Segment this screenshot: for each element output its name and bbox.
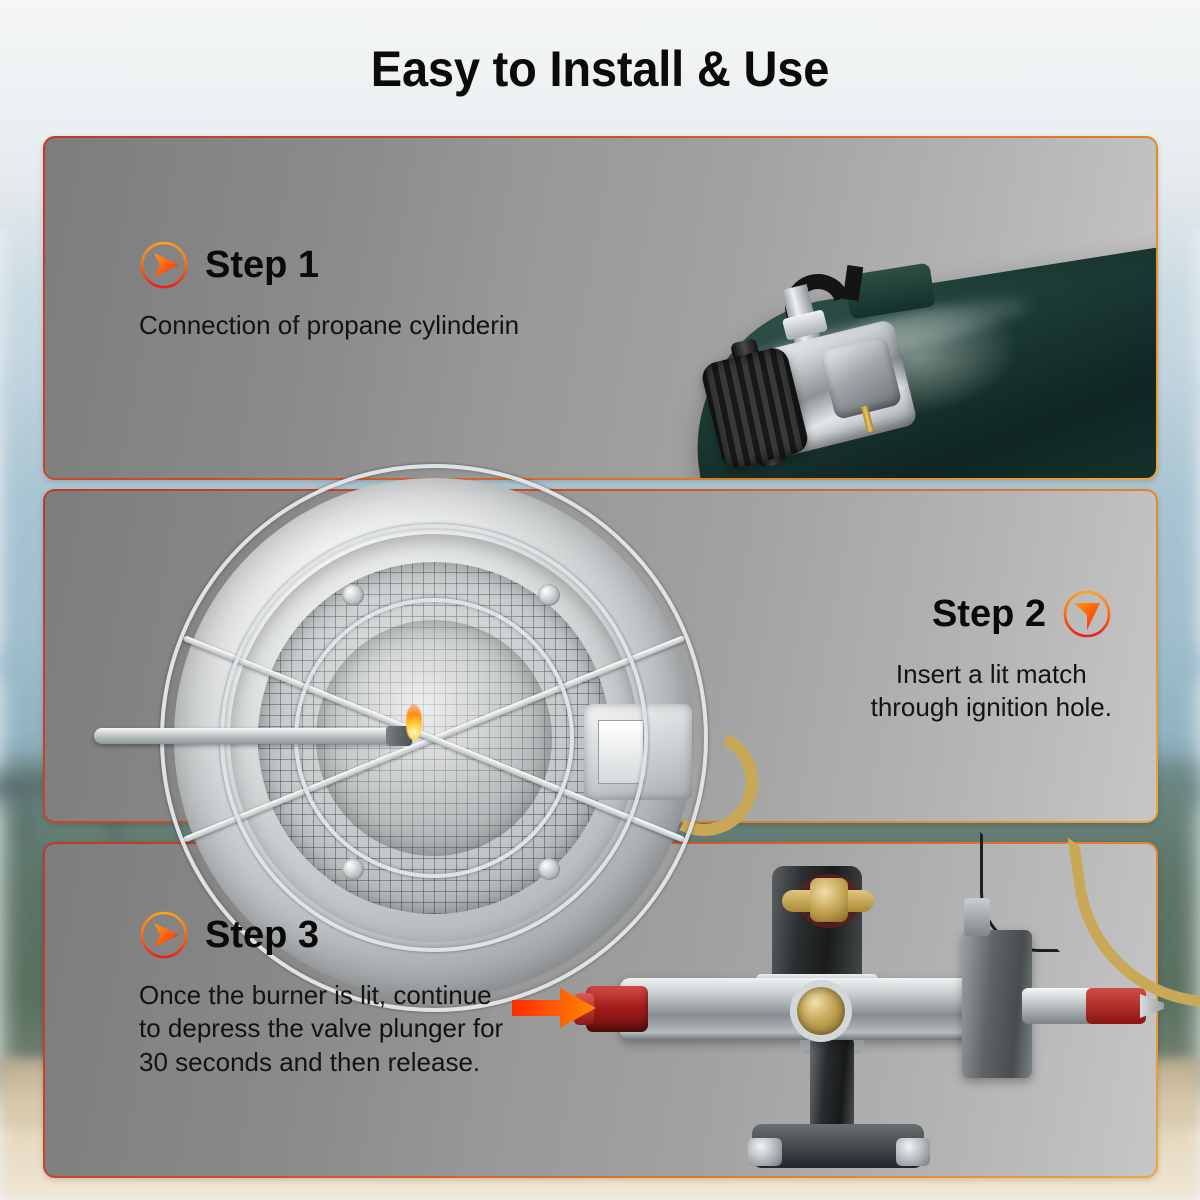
step-3-title: Step 3 <box>205 916 319 954</box>
step-3-illustration <box>560 838 1180 1183</box>
step-2-body: Insert a lit match through ignition hole… <box>871 658 1112 725</box>
circle-arrow-down-icon <box>1062 589 1112 639</box>
page-title: Easy to Install & Use <box>36 40 1164 98</box>
match-rod <box>94 728 404 744</box>
wing-nut-hub <box>810 878 848 922</box>
step-3-heading: Step 3 <box>139 910 503 960</box>
circle-arrow-right-icon <box>139 240 189 290</box>
step-2-title: Step 2 <box>932 595 1046 633</box>
brass-inlet-port <box>790 980 852 1042</box>
circle-arrow-right-icon <box>139 910 189 960</box>
press-direction-arrow-icon <box>512 986 598 1030</box>
valve-red-cap <box>1086 988 1146 1024</box>
step-1-text-block: Step 1 Connection of propane cylinderin <box>139 240 519 342</box>
flame-icon <box>406 704 422 740</box>
step-3-body: Once the burner is lit, continue to depr… <box>139 979 503 1079</box>
step-1-body: Connection of propane cylinderin <box>139 309 519 342</box>
tripod-foot <box>748 1138 782 1166</box>
step-1-heading: Step 1 <box>139 240 519 290</box>
step-3-text-block: Step 3 Once the burner is lit, continue … <box>139 910 503 1079</box>
valve-clip <box>964 898 990 936</box>
infographic-page: Easy to Install & Use <box>0 0 1200 1200</box>
step-2-text-block: Step 2 Insert a lit match through igniti… <box>871 589 1112 725</box>
step-1-title: Step 1 <box>205 246 319 284</box>
tripod-foot <box>896 1138 930 1166</box>
step-2-heading: Step 2 <box>871 589 1112 639</box>
